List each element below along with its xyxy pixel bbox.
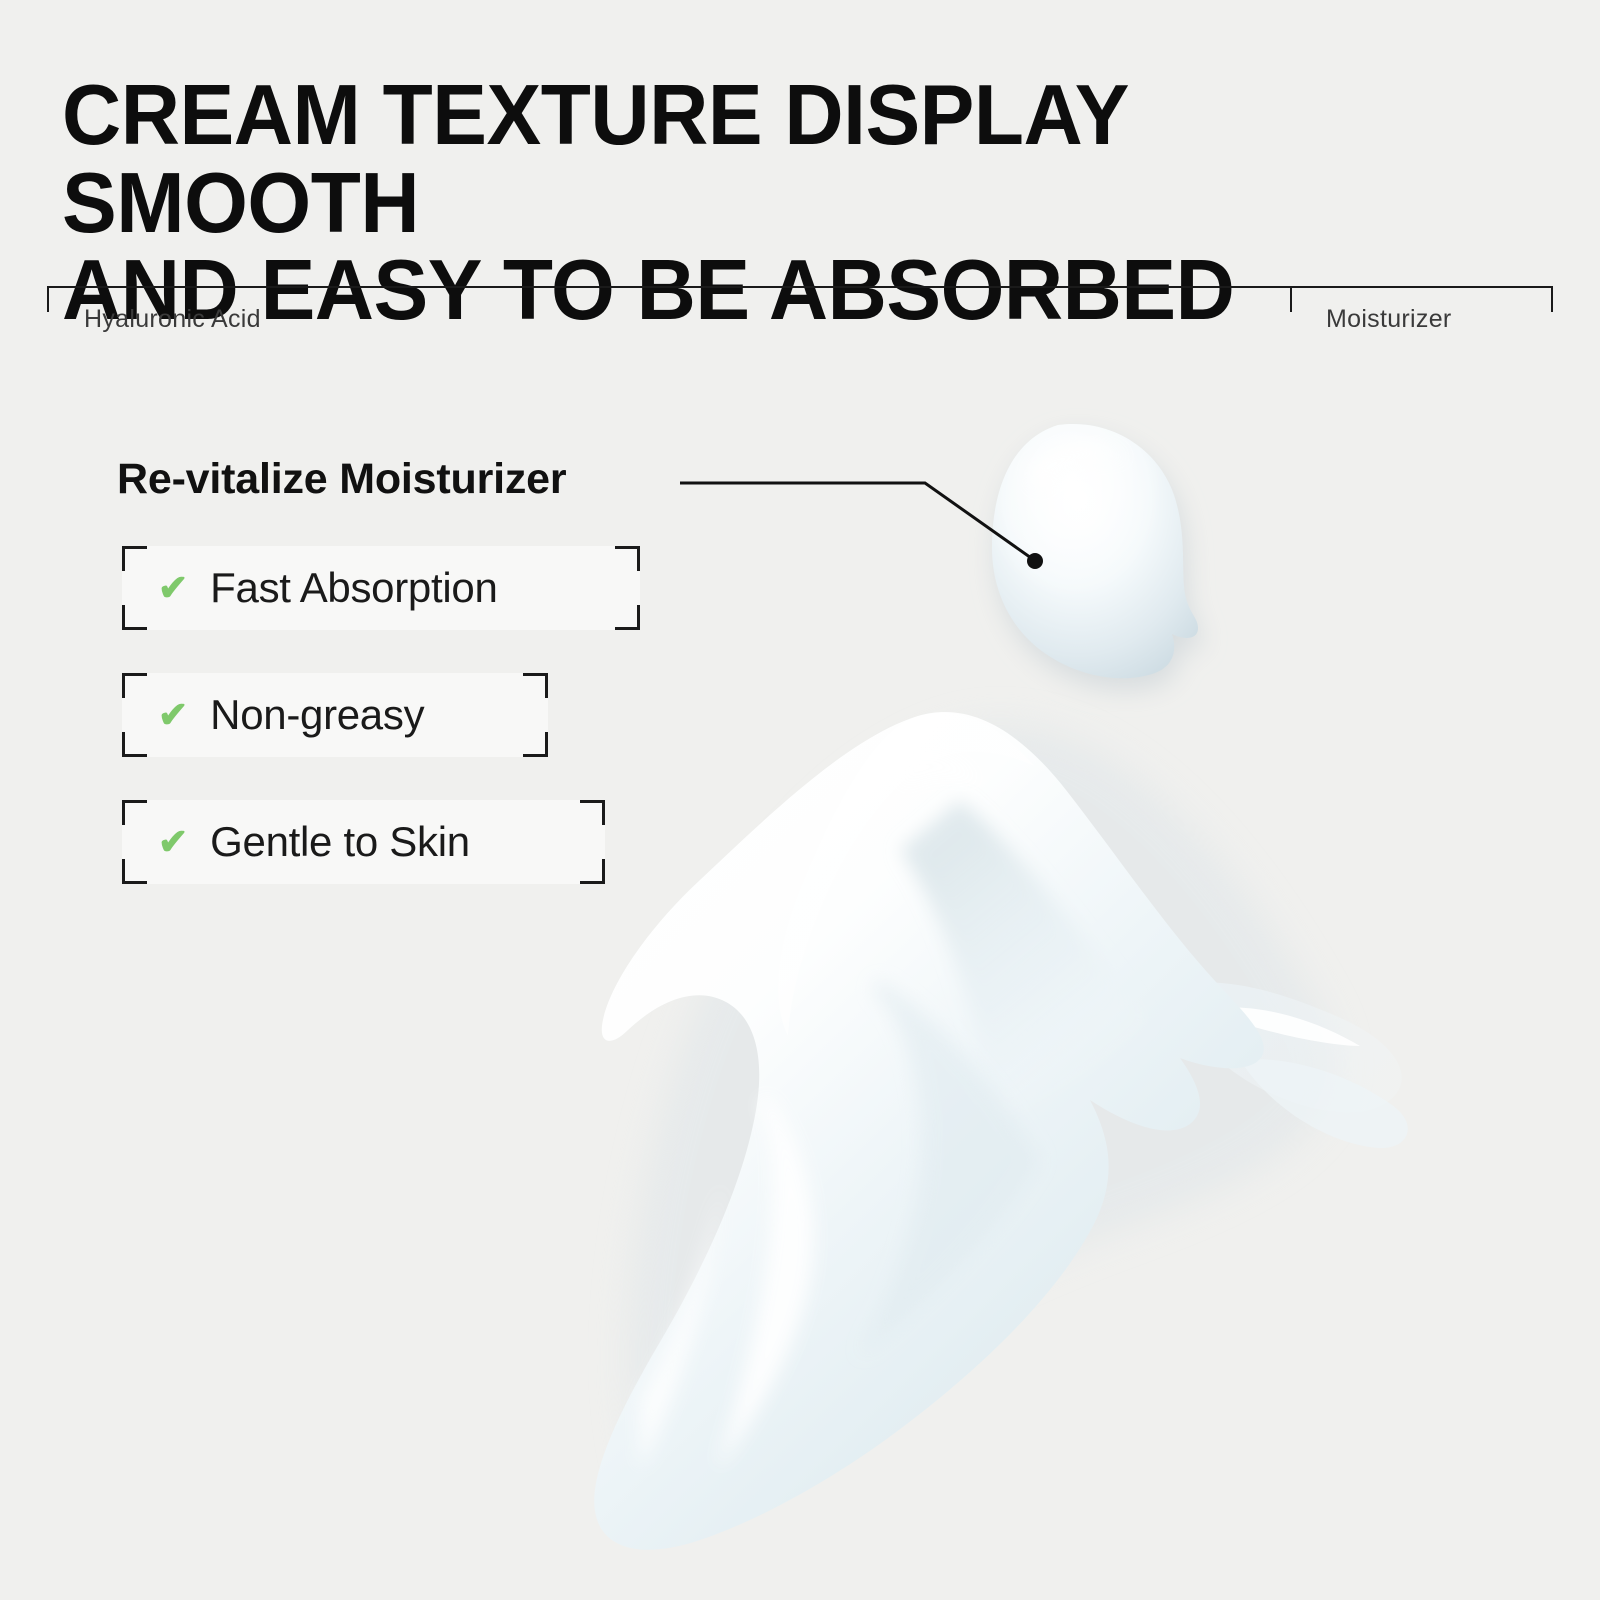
feature-item-gentle-to-skin: ✔ Gentle to Skin bbox=[122, 800, 605, 884]
check-icon: ✔ bbox=[158, 824, 188, 860]
cream-swipe bbox=[594, 712, 1408, 1550]
feature-item-fast-absorption: ✔ Fast Absorption bbox=[122, 546, 640, 630]
corner-bracket-top-right bbox=[615, 546, 640, 571]
feature-label: Fast Absorption bbox=[210, 564, 497, 612]
corner-bracket-bottom-right bbox=[615, 605, 640, 630]
corner-bracket-bottom-left bbox=[122, 605, 147, 630]
divider-tick-middle bbox=[1290, 286, 1292, 312]
corner-bracket-top-left bbox=[122, 673, 147, 698]
corner-bracket-top-right bbox=[523, 673, 548, 698]
ingredient-label-moisturizer: Moisturizer bbox=[1326, 305, 1452, 334]
divider-tick-left bbox=[47, 286, 49, 312]
check-icon: ✔ bbox=[158, 697, 188, 733]
corner-bracket-top-right bbox=[580, 800, 605, 825]
corner-bracket-bottom-left bbox=[122, 732, 147, 757]
divider-line bbox=[47, 286, 1553, 288]
corner-bracket-top-left bbox=[122, 800, 147, 825]
corner-bracket-top-left bbox=[122, 546, 147, 571]
product-name-heading: Re-vitalize Moisturizer bbox=[117, 455, 566, 504]
product-infographic: CREAM TEXTURE DISPLAY SMOOTH AND EASY TO… bbox=[0, 0, 1600, 1600]
feature-item-non-greasy: ✔ Non-greasy bbox=[122, 673, 548, 757]
corner-bracket-bottom-right bbox=[523, 732, 548, 757]
ingredient-label-hyaluronic-acid: Hyaluronic Acid bbox=[84, 305, 261, 334]
corner-bracket-bottom-left bbox=[122, 859, 147, 884]
feature-label: Gentle to Skin bbox=[210, 818, 470, 866]
check-icon: ✔ bbox=[158, 570, 188, 606]
divider-tick-right bbox=[1551, 286, 1553, 312]
feature-label: Non-greasy bbox=[210, 691, 424, 739]
corner-bracket-bottom-right bbox=[580, 859, 605, 884]
cream-dollop bbox=[992, 424, 1198, 678]
